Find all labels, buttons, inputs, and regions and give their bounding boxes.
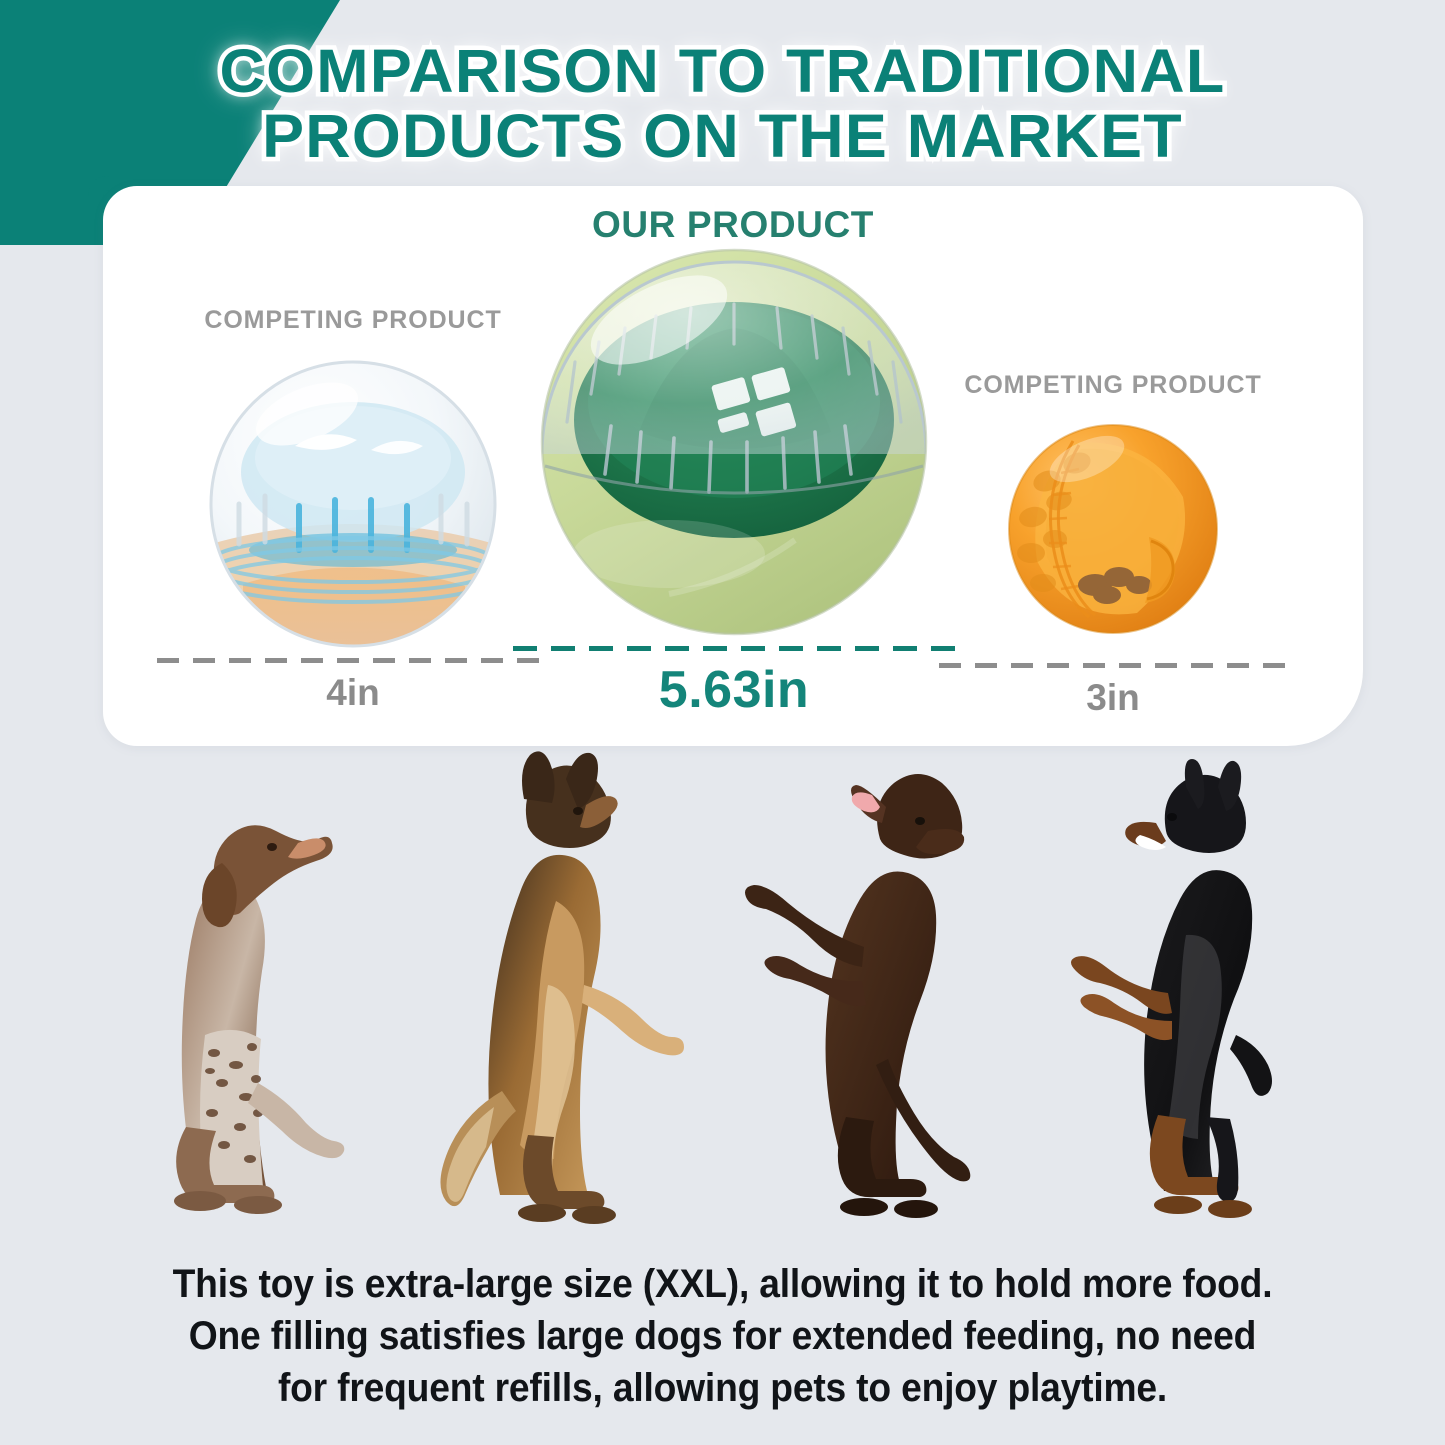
page-title-line-1: COMPARISON TO TRADITIONAL	[0, 42, 1445, 101]
product-center-ball-image	[519, 242, 949, 642]
product-center-ours: 5.63in	[503, 232, 965, 712]
page-title-line-2: PRODUCTS ON THE MARKET	[0, 107, 1445, 166]
product-left-ball-image	[203, 354, 503, 654]
product-description-caption: This toy is extra-large size (XXL), allo…	[118, 1258, 1328, 1414]
product-left-measure-line	[157, 658, 549, 663]
comparison-card: OUR PRODUCT COMPETING PRODUCT	[103, 186, 1363, 746]
dog-photo-strip	[0, 735, 1445, 1255]
product-right-ball-image	[1003, 419, 1223, 639]
product-left-competing: COMPETING PRODUCT	[143, 306, 563, 706]
product-left-label: COMPETING PRODUCT	[143, 306, 563, 335]
product-left-size: 4in	[143, 672, 563, 714]
page-title: COMPARISON TO TRADITIONAL PRODUCTS ON TH…	[0, 42, 1445, 165]
caption-line-3: for frequent refills, allowing pets to e…	[118, 1362, 1328, 1414]
dog-doberman	[1071, 759, 1272, 1218]
caption-line-2: One filling satisfies large dogs for ext…	[118, 1310, 1328, 1362]
product-right-size: 3in	[903, 677, 1323, 719]
dog-labrador	[745, 774, 970, 1218]
product-right-competing: COMPETING PRODUCT	[903, 371, 1323, 711]
dog-pointer	[174, 825, 344, 1214]
caption-line-1: This toy is extra-large size (XXL), allo…	[118, 1258, 1328, 1310]
product-center-measure-line	[513, 646, 955, 651]
product-right-measure-line	[939, 663, 1287, 668]
product-right-label: COMPETING PRODUCT	[903, 371, 1323, 400]
product-center-size: 5.63in	[503, 660, 965, 720]
dog-shepherd	[440, 751, 684, 1224]
